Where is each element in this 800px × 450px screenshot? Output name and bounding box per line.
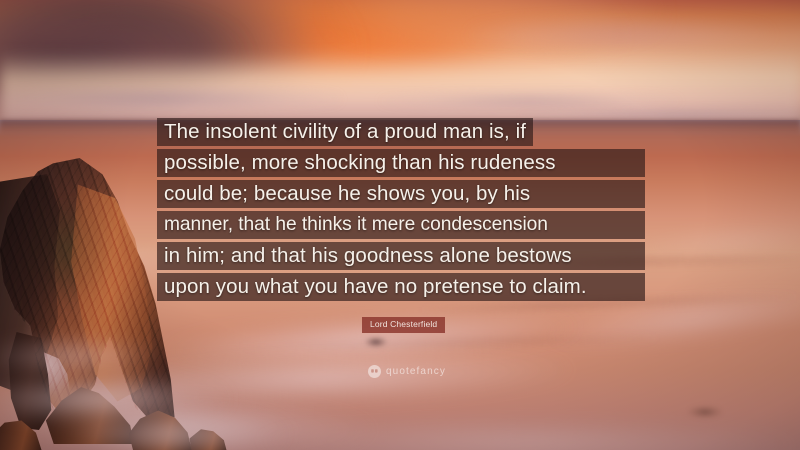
quote-line-2: possible, more shocking than his rudenes… [157, 149, 645, 177]
quote-line-3: could be; because he shows you, by his [157, 180, 645, 208]
quote-line-6: upon you what you have no pretense to cl… [157, 273, 645, 301]
author-badge: Lord Chesterfield [362, 317, 445, 333]
quote-line-4: manner, that he thinks it mere condescen… [157, 211, 645, 239]
quotefancy-watermark[interactable]: quotefancy [368, 365, 446, 378]
quote-line-1: The insolent civility of a proud man is,… [157, 118, 533, 146]
quotefancy-circle-icon [368, 365, 381, 378]
quotefancy-wordmark: quotefancy [386, 366, 446, 378]
quote-text-block: The insolent civility of a proud man is,… [157, 118, 645, 301]
quote-wallpaper: The insolent civility of a proud man is,… [0, 0, 800, 450]
quote-line-5: in him; and that his goodness alone best… [157, 242, 645, 270]
